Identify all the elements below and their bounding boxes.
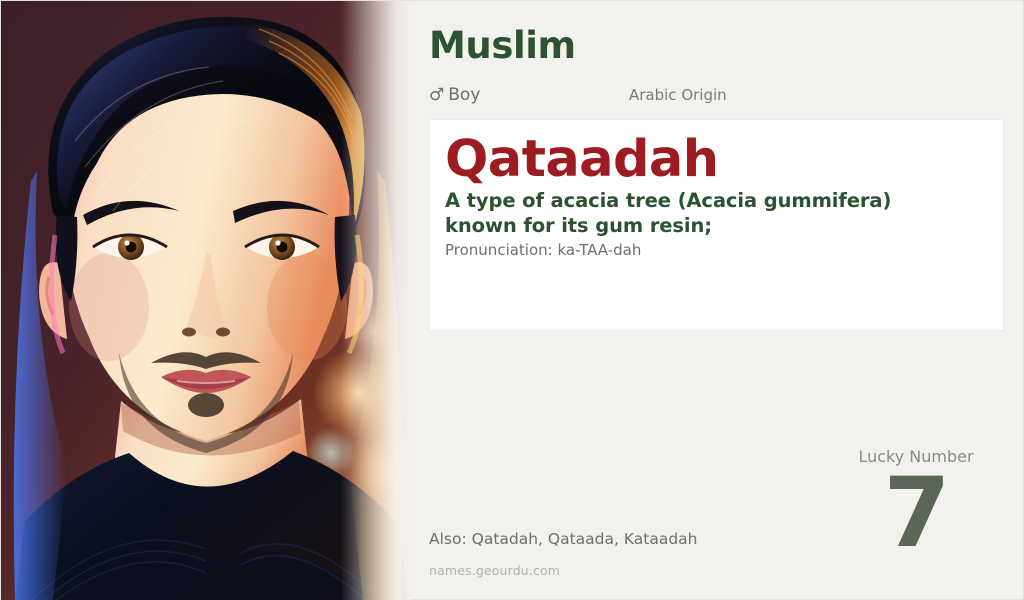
male-symbol-icon: ♂ (429, 85, 444, 105)
portrait-illustration (1, 1, 411, 600)
detail-content: Muslim ♂Boy Arabic Origin Qataadah A typ… (411, 1, 1023, 599)
origin-label: Arabic Origin (629, 83, 727, 107)
source-watermark: names.geourdu.com (429, 563, 560, 578)
alternate-spellings: Also: Qatadah, Qataada, Kataadah (429, 530, 698, 549)
meta-row: ♂Boy Arabic Origin (429, 83, 989, 107)
name-pronunciation: Pronunciation: ka-TAA-dah (445, 241, 988, 261)
religion-title: Muslim (429, 27, 576, 64)
portrait-image (1, 1, 411, 600)
name-meaning: A type of acacia tree (Acacia gummifera)… (445, 189, 965, 239)
lucky-number-value: 7 (831, 467, 1001, 559)
name-heading: Qataadah (445, 133, 988, 187)
gender-text: Boy (448, 85, 480, 105)
lucky-number-block: Lucky Number 7 (831, 449, 1001, 559)
name-detail-card: Muslim ♂Boy Arabic Origin Qataadah A typ… (0, 0, 1024, 600)
gender-label: ♂Boy (429, 83, 480, 107)
name-info-card: Qataadah A type of acacia tree (Acacia g… (429, 119, 1004, 331)
